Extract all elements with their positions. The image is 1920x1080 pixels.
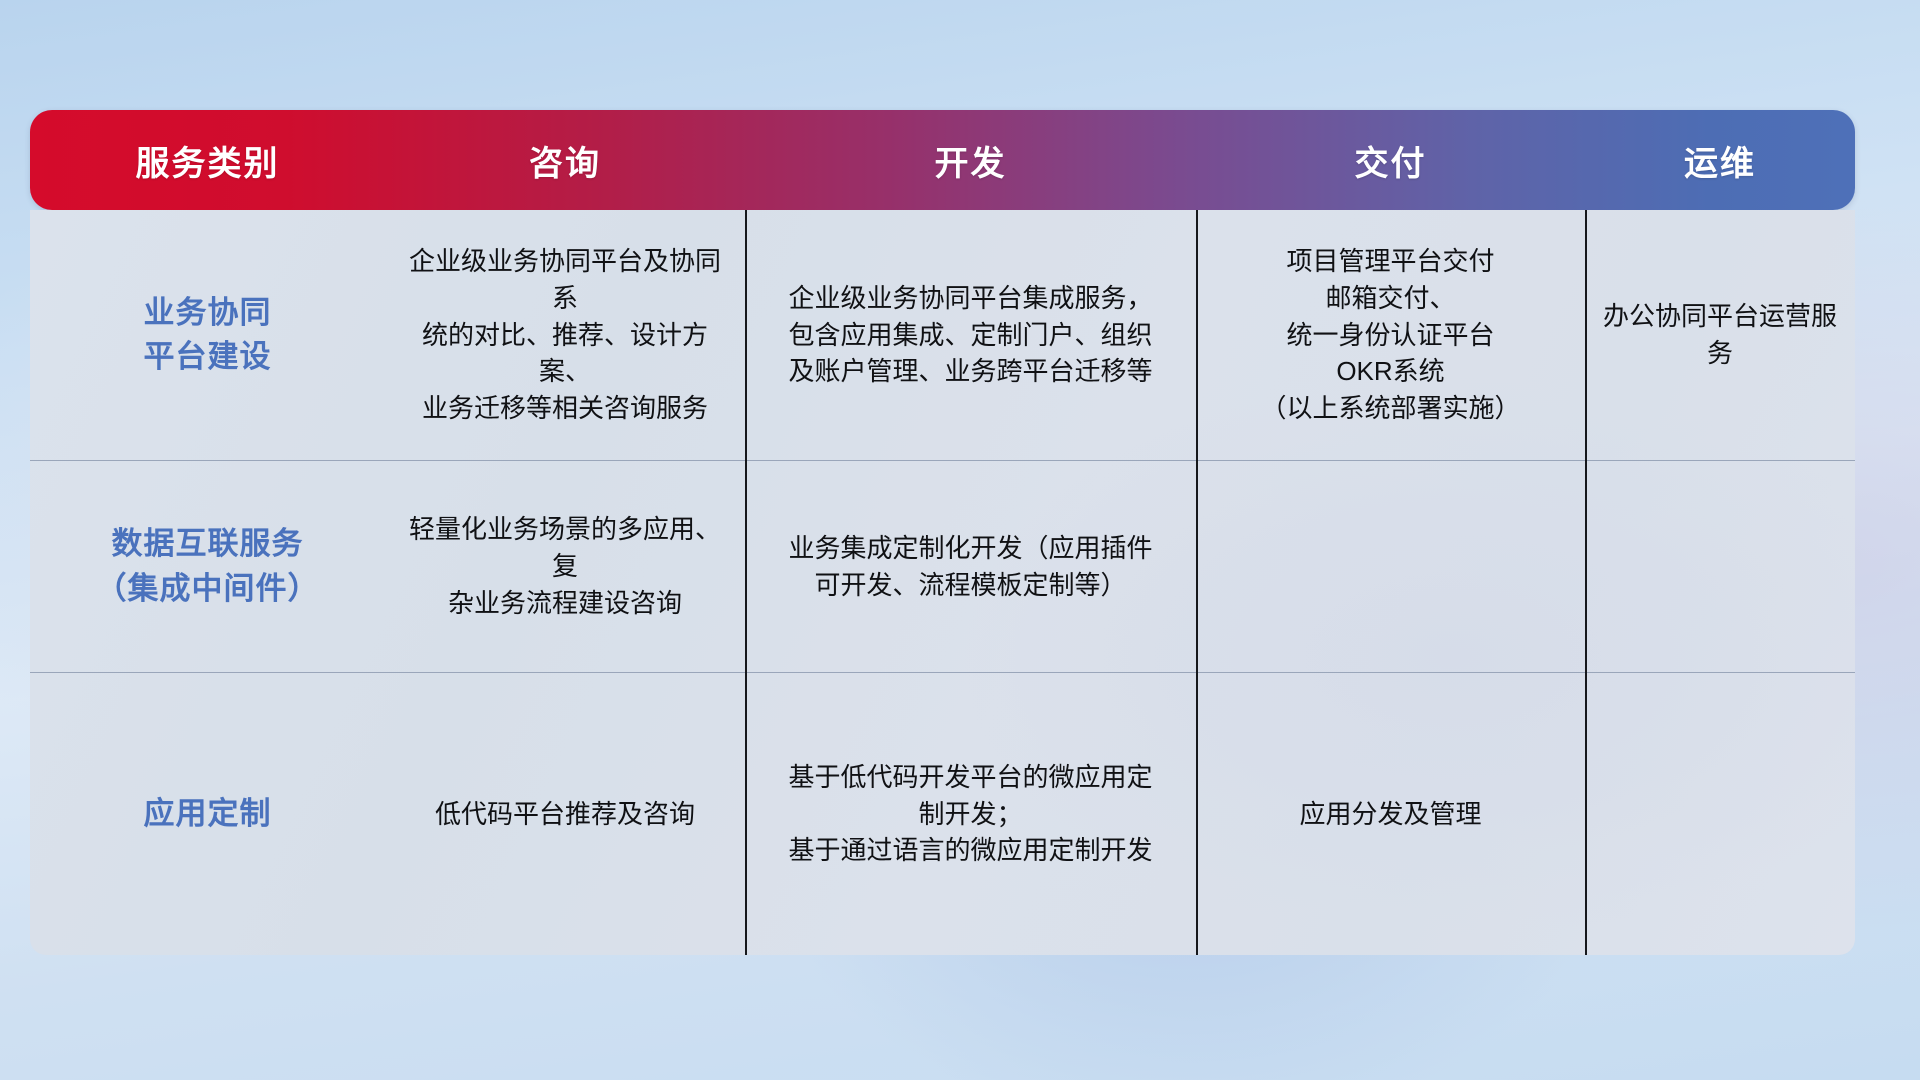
cell-operations — [1585, 461, 1855, 672]
cell-development: 业务集成定制化开发（应用插件 可开发、流程模板定制等） — [745, 461, 1196, 672]
table-body: 业务协同 平台建设 企业级业务协同平台及协同系 统的对比、推荐、设计方案、 业务… — [30, 210, 1855, 955]
cell-consulting: 企业级业务协同平台及协同系 统的对比、推荐、设计方案、 业务迁移等相关咨询服务 — [385, 210, 745, 460]
table-row: 应用定制 低代码平台推荐及咨询 基于低代码开发平台的微应用定 制开发； 基于通过… — [30, 672, 1855, 955]
table-row: 数据互联服务 （集成中间件） 轻量化业务场景的多应用、复 杂业务流程建设咨询 业… — [30, 460, 1855, 672]
table-header-row: 服务类别 咨询 开发 交付 运维 — [30, 110, 1855, 210]
table-row: 业务协同 平台建设 企业级业务协同平台及协同系 统的对比、推荐、设计方案、 业务… — [30, 210, 1855, 460]
cell-category: 应用定制 — [30, 673, 385, 955]
cell-development: 基于低代码开发平台的微应用定 制开发； 基于通过语言的微应用定制开发 — [745, 673, 1196, 955]
header-cell-delivery: 交付 — [1196, 136, 1585, 185]
column-divider-2 — [1196, 210, 1198, 955]
cell-operations — [1585, 673, 1855, 955]
cell-delivery: 应用分发及管理 — [1196, 673, 1585, 955]
cell-delivery — [1196, 461, 1585, 672]
cell-category: 数据互联服务 （集成中间件） — [30, 461, 385, 672]
cell-category: 业务协同 平台建设 — [30, 210, 385, 460]
header-cell-service-category: 服务类别 — [30, 136, 385, 185]
header-cell-development: 开发 — [745, 136, 1196, 185]
cell-consulting: 低代码平台推荐及咨询 — [385, 673, 745, 955]
cell-consulting: 轻量化业务场景的多应用、复 杂业务流程建设咨询 — [385, 461, 745, 672]
column-divider-3 — [1585, 210, 1587, 955]
cell-operations: 办公协同平台运营服务 — [1585, 210, 1855, 460]
cell-development: 企业级业务协同平台集成服务， 包含应用集成、定制门户、组织 及账户管理、业务跨平… — [745, 210, 1196, 460]
header-cell-operations: 运维 — [1585, 136, 1855, 185]
header-cell-consulting: 咨询 — [385, 136, 745, 185]
cell-delivery: 项目管理平台交付 邮箱交付、 统一身份认证平台 OKR系统 （以上系统部署实施） — [1196, 210, 1585, 460]
service-matrix-table: 服务类别 咨询 开发 交付 运维 业务协同 平台建设 企业级业务协同平台及协同系… — [30, 110, 1855, 955]
column-divider-1 — [745, 210, 747, 955]
